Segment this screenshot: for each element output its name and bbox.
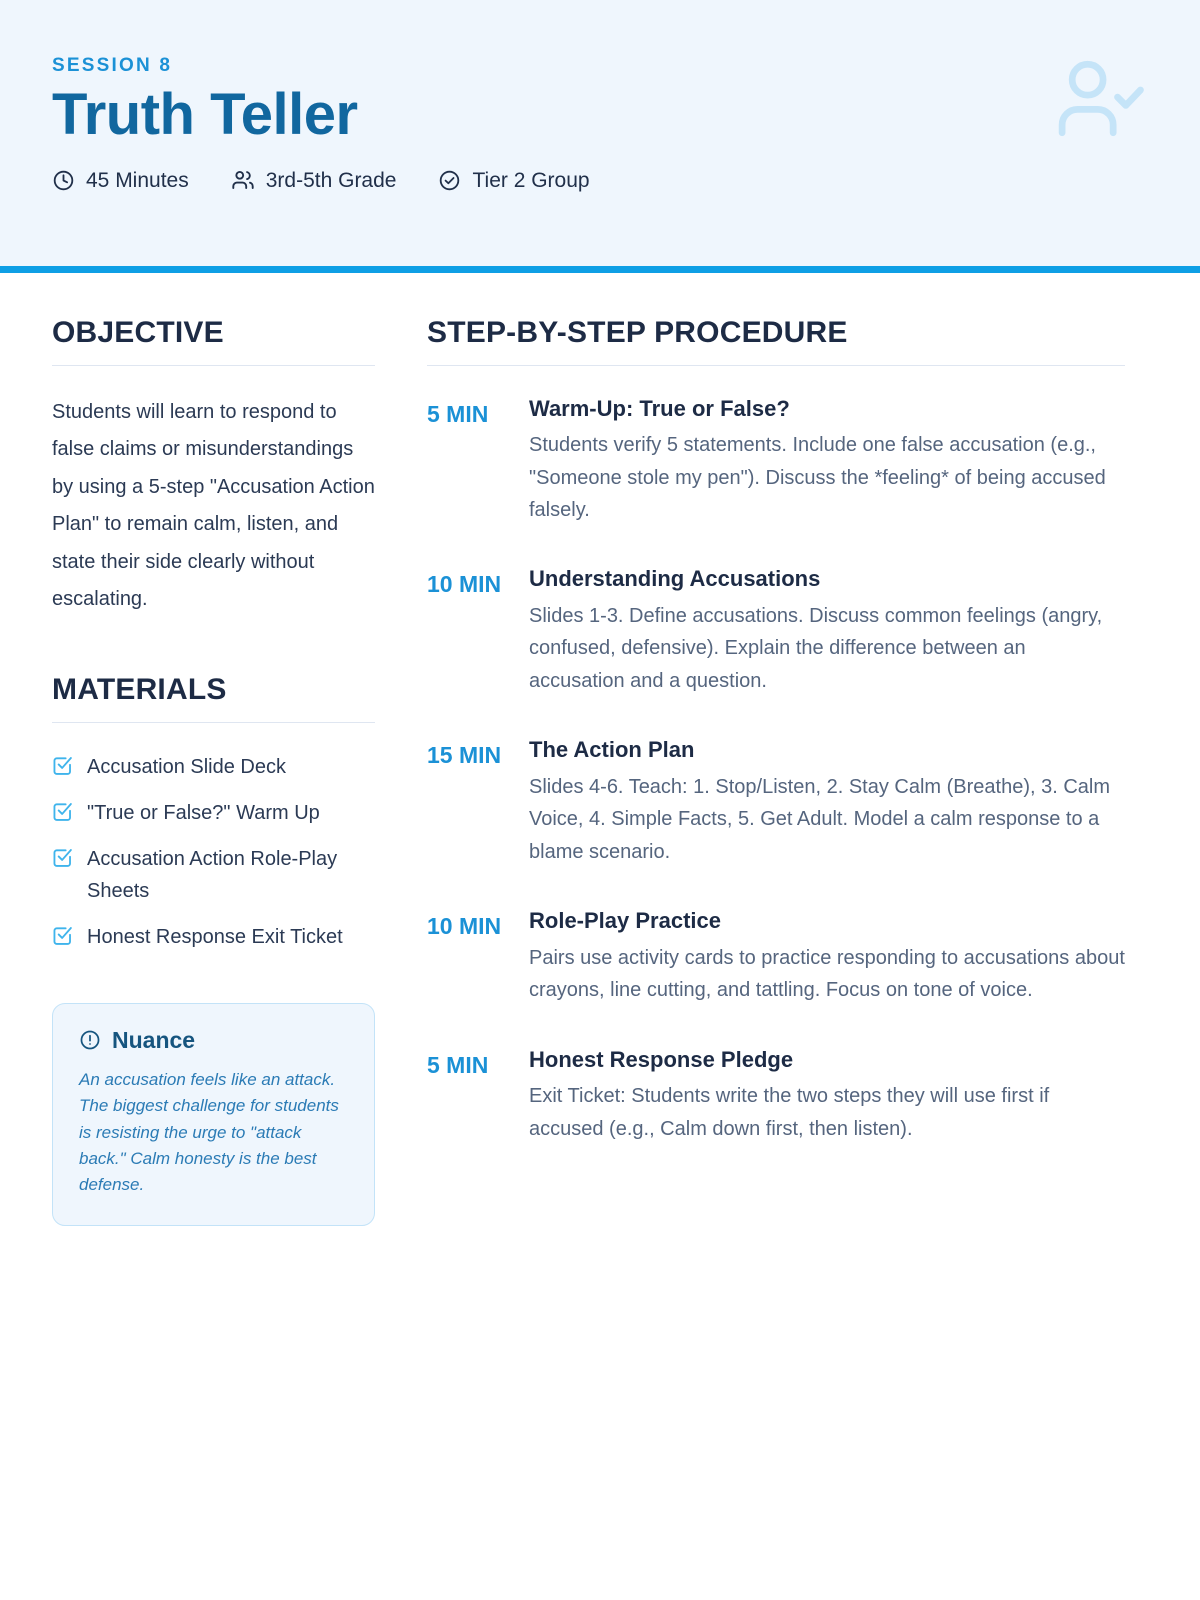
materials-divider [52, 722, 375, 723]
check-square-icon [52, 801, 73, 822]
lesson-header: SESSION 8 Truth Teller 45 Minutes 3r [0, 0, 1200, 273]
alert-circle-icon [79, 1029, 101, 1051]
step-content: Honest Response Pledge Exit Ticket: Stud… [529, 1045, 1125, 1145]
step-title: Role-Play Practice [529, 906, 1125, 936]
check-circle-icon [438, 169, 461, 192]
step-content: Role-Play Practice Pairs use activity ca… [529, 906, 1125, 1006]
nuance-text: An accusation feels like an attack. The … [79, 1067, 350, 1199]
step-content: Understanding Accusations Slides 1-3. De… [529, 564, 1125, 697]
check-square-icon [52, 925, 73, 946]
nuance-header: Nuance [79, 1028, 350, 1053]
page-title: Truth Teller [52, 84, 1148, 147]
procedure-steps: 5 MIN Warm-Up: True or False? Students v… [427, 394, 1125, 1146]
procedure-step: 5 MIN Honest Response Pledge Exit Ticket… [427, 1045, 1125, 1145]
step-description: Slides 1-3. Define accusations. Discuss … [529, 600, 1125, 697]
meta-label-grade: 3rd-5th Grade [266, 170, 397, 191]
step-description: Exit Ticket: Students write the two step… [529, 1080, 1125, 1145]
procedure-step: 5 MIN Warm-Up: True or False? Students v… [427, 394, 1125, 527]
materials-list: Accusation Slide Deck "True or False?" W… [52, 751, 375, 953]
step-content: Warm-Up: True or False? Students verify … [529, 394, 1125, 527]
left-column: OBJECTIVE Students will learn to respond… [52, 316, 375, 1226]
procedure-step: 10 MIN Role-Play Practice Pairs use acti… [427, 906, 1125, 1006]
meta-label-tier: Tier 2 Group [472, 170, 589, 191]
material-label: Honest Response Exit Ticket [87, 921, 343, 953]
users-icon [231, 168, 255, 192]
procedure-step: 10 MIN Understanding Accusations Slides … [427, 564, 1125, 697]
objective-text: Students will learn to respond to false … [52, 394, 375, 620]
meta-item-grade: 3rd-5th Grade [231, 168, 397, 192]
objective-heading: OBJECTIVE [52, 316, 375, 351]
step-description: Slides 4-6. Teach: 1. Stop/Listen, 2. St… [529, 771, 1125, 868]
lesson-body: OBJECTIVE Students will learn to respond… [0, 273, 1200, 1226]
nuance-title: Nuance [112, 1028, 195, 1053]
session-label: SESSION 8 [52, 55, 1148, 78]
meta-item-duration: 45 Minutes [52, 169, 189, 192]
materials-section: MATERIALS Accusation Slide Deck [52, 673, 375, 953]
step-duration: 5 MIN [427, 394, 529, 434]
check-square-icon [52, 847, 73, 868]
meta-item-tier: Tier 2 Group [438, 169, 589, 192]
clock-icon [52, 169, 75, 192]
step-title: Honest Response Pledge [529, 1045, 1125, 1075]
material-label: "True or False?" Warm Up [87, 797, 320, 829]
procedure-divider [427, 365, 1125, 366]
step-duration: 5 MIN [427, 1045, 529, 1085]
procedure-heading: STEP-BY-STEP PROCEDURE [427, 316, 1125, 351]
meta-label-duration: 45 Minutes [86, 170, 189, 191]
check-square-icon [52, 755, 73, 776]
list-item: "True or False?" Warm Up [52, 797, 375, 829]
step-duration: 10 MIN [427, 906, 529, 946]
list-item: Accusation Action Role-Play Sheets [52, 843, 375, 907]
step-title: Understanding Accusations [529, 564, 1125, 594]
step-content: The Action Plan Slides 4-6. Teach: 1. St… [529, 735, 1125, 868]
objective-divider [52, 365, 375, 366]
objective-section: OBJECTIVE Students will learn to respond… [52, 316, 375, 619]
material-label: Accusation Action Role-Play Sheets [87, 843, 375, 907]
materials-heading: MATERIALS [52, 673, 375, 708]
procedure-step: 15 MIN The Action Plan Slides 4-6. Teach… [427, 735, 1125, 868]
nuance-callout: Nuance An accusation feels like an attac… [52, 1003, 375, 1226]
step-duration: 15 MIN [427, 735, 529, 775]
right-column: STEP-BY-STEP PROCEDURE 5 MIN Warm-Up: Tr… [427, 316, 1125, 1145]
step-description: Pairs use activity cards to practice res… [529, 942, 1125, 1007]
material-label: Accusation Slide Deck [87, 751, 286, 783]
step-title: The Action Plan [529, 735, 1125, 765]
list-item: Honest Response Exit Ticket [52, 921, 375, 953]
list-item: Accusation Slide Deck [52, 751, 375, 783]
step-duration: 10 MIN [427, 564, 529, 604]
step-title: Warm-Up: True or False? [529, 394, 1125, 424]
user-check-icon [1053, 52, 1148, 147]
step-description: Students verify 5 statements. Include on… [529, 429, 1125, 526]
header-meta-row: 45 Minutes 3rd-5th Grade Tier 2 Grou [52, 168, 1148, 192]
